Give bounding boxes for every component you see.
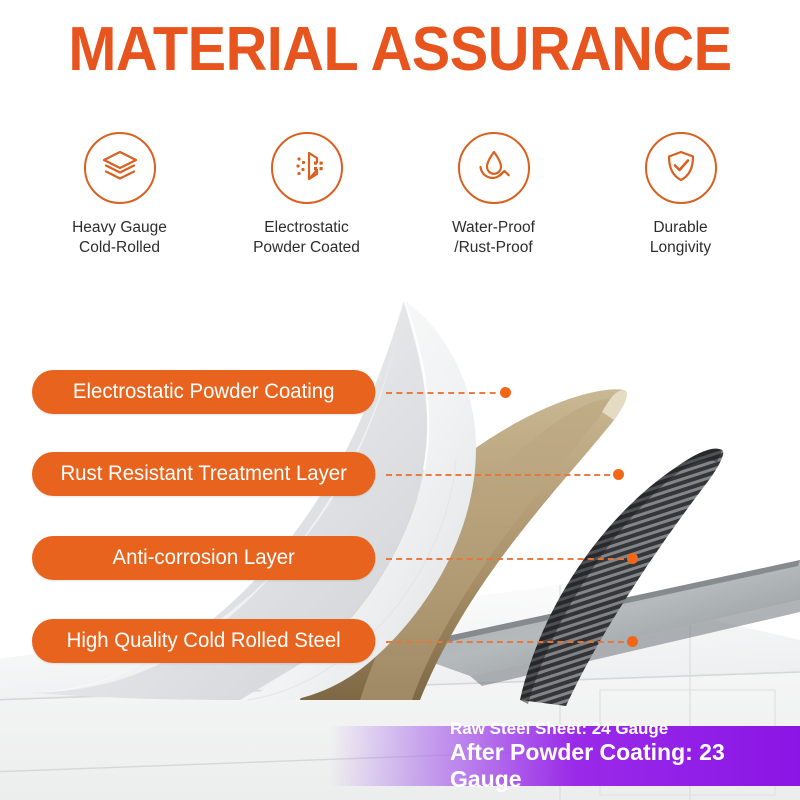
layer-label-cold-rolled-steel[interactable]: High Quality Cold Rolled Steel (32, 619, 375, 663)
water-droplet-icon (473, 145, 515, 192)
layer-label-electrostatic-powder-coating[interactable]: Electrostatic Powder Coating (32, 370, 375, 414)
connector-line-4 (386, 641, 634, 643)
connector-dot-1 (500, 387, 511, 398)
connector-dot-4 (627, 636, 638, 647)
connector-line-1 (386, 392, 506, 394)
layer-label-rust-resistant-treatment[interactable]: Rust Resistant Treatment Layer (32, 452, 375, 496)
feature-row: Heavy Gauge Cold-Rolled (0, 132, 800, 282)
shield-check-icon (660, 145, 702, 192)
feature-item-durable: Durable Longivity (601, 132, 761, 258)
feature-label: Electrostatic Powder Coated (253, 218, 360, 258)
feature-icon-circle (645, 132, 717, 204)
layer-label-anti-corrosion[interactable]: Anti-corrosion Layer (32, 536, 375, 580)
connector-dot-2 (613, 469, 624, 480)
feature-item-powder-coated: Electrostatic Powder Coated (227, 132, 387, 258)
feature-icon-circle (458, 132, 530, 204)
feature-item-heavy-gauge: Heavy Gauge Cold-Rolled (40, 132, 200, 258)
feature-label: Durable Longivity (650, 218, 711, 258)
connector-line-2 (386, 474, 620, 476)
layers-icon (99, 145, 141, 192)
feature-icon-circle (84, 132, 156, 204)
feature-label: Heavy Gauge Cold-Rolled (72, 218, 167, 258)
feature-icon-circle (271, 132, 343, 204)
infographic-canvas: MATERIAL ASSURANCE Heavy Gauge Cold-Roll… (0, 0, 800, 800)
spray-coating-icon (286, 145, 328, 192)
connector-line-3 (386, 558, 634, 560)
raw-steel-gauge-text: Raw Steel Sheet: 24 Gauge (450, 719, 800, 739)
feature-item-water-proof: Water-Proof /Rust-Proof (414, 132, 574, 258)
coated-gauge-text: After Powder Coating: 23 Gauge (450, 739, 800, 793)
page-title: MATERIAL ASSURANCE (28, 16, 772, 84)
connector-dot-3 (627, 553, 638, 564)
gauge-banner: Raw Steel Sheet: 24 Gauge After Powder C… (330, 726, 800, 786)
feature-label: Water-Proof /Rust-Proof (452, 218, 535, 258)
